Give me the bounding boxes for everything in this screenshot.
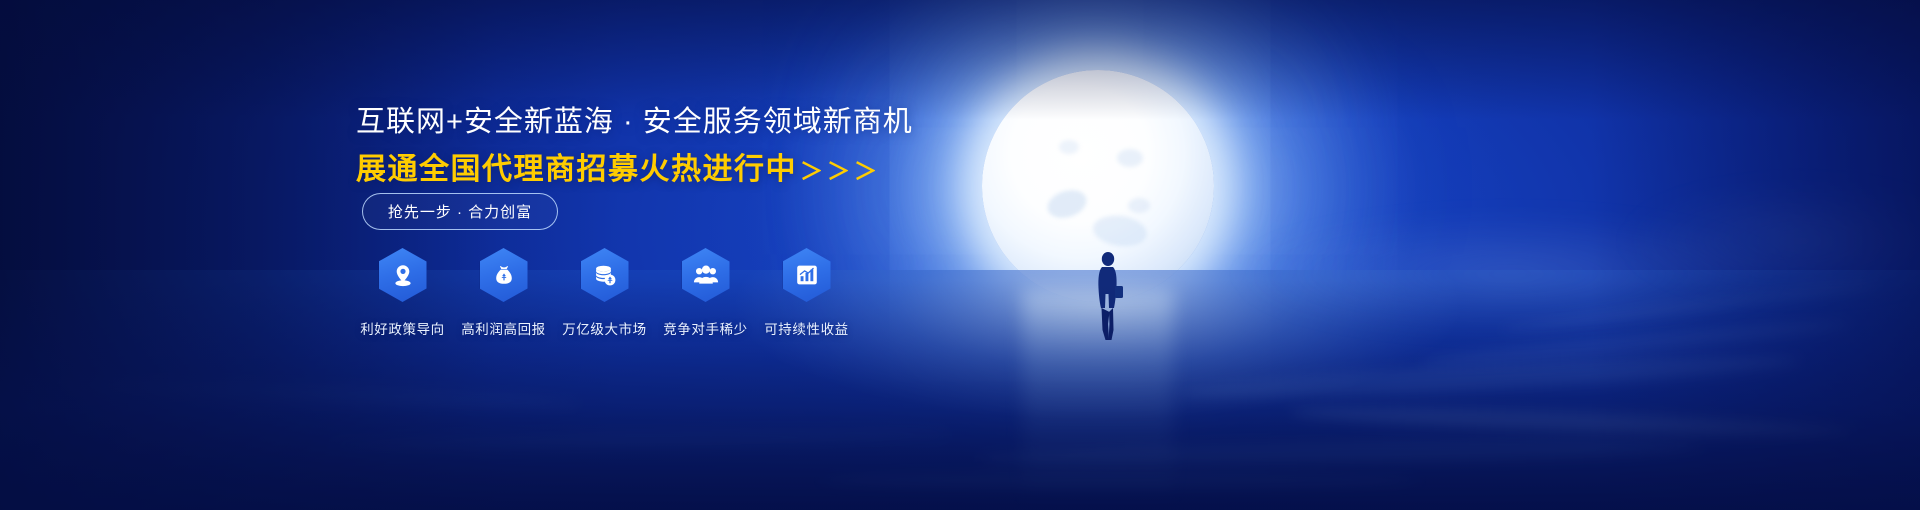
feature-label: 可持续性收益 (764, 318, 849, 338)
banner-content: 互联网+安全新蓝海 · 安全服务领域新商机 展通全国代理商招募火热进行中 ＞＞＞… (0, 0, 1920, 510)
feature-label: 利好政策导向 (360, 318, 445, 338)
arrows-decoration: ＞＞＞ (800, 152, 881, 186)
feature-label: 竞争对手稀少 (663, 318, 748, 338)
feature-label: 万亿级大市场 (562, 318, 647, 338)
banner-subheadline: 展通全国代理商招募火热进行中 (356, 144, 797, 188)
money-bag-yen-icon (491, 262, 517, 288)
hex-badge (379, 248, 427, 302)
coin-stack-yen-icon (592, 262, 618, 288)
feature-list: 利好政策导向 高利润高回报 (352, 248, 857, 338)
location-pin-icon (390, 262, 416, 288)
feature-label: 高利润高回报 (461, 318, 546, 338)
feature-item-market[interactable]: 万亿级大市场 (554, 248, 655, 338)
feature-item-profit[interactable]: 高利润高回报 (453, 248, 554, 338)
bar-chart-growth-icon (794, 262, 820, 288)
feature-item-competition[interactable]: 竞争对手稀少 (655, 248, 756, 338)
feature-item-revenue[interactable]: 可持续性收益 (756, 248, 857, 338)
hex-badge (480, 248, 528, 302)
banner-headline: 互联网+安全新蓝海 · 安全服务领域新商机 (356, 98, 913, 140)
hex-badge (783, 248, 831, 302)
banner-subheadline-row: 展通全国代理商招募火热进行中 ＞＞＞ (356, 144, 881, 188)
feature-item-policy[interactable]: 利好政策导向 (352, 248, 453, 338)
promo-banner: 互联网+安全新蓝海 · 安全服务领域新商机 展通全国代理商招募火热进行中 ＞＞＞… (0, 0, 1920, 510)
cta-pill-label: 抢先一步 · 合力创富 (388, 201, 532, 222)
group-people-icon (693, 262, 719, 288)
hex-badge (581, 248, 629, 302)
hex-badge (682, 248, 730, 302)
cta-pill-button[interactable]: 抢先一步 · 合力创富 (362, 193, 558, 230)
